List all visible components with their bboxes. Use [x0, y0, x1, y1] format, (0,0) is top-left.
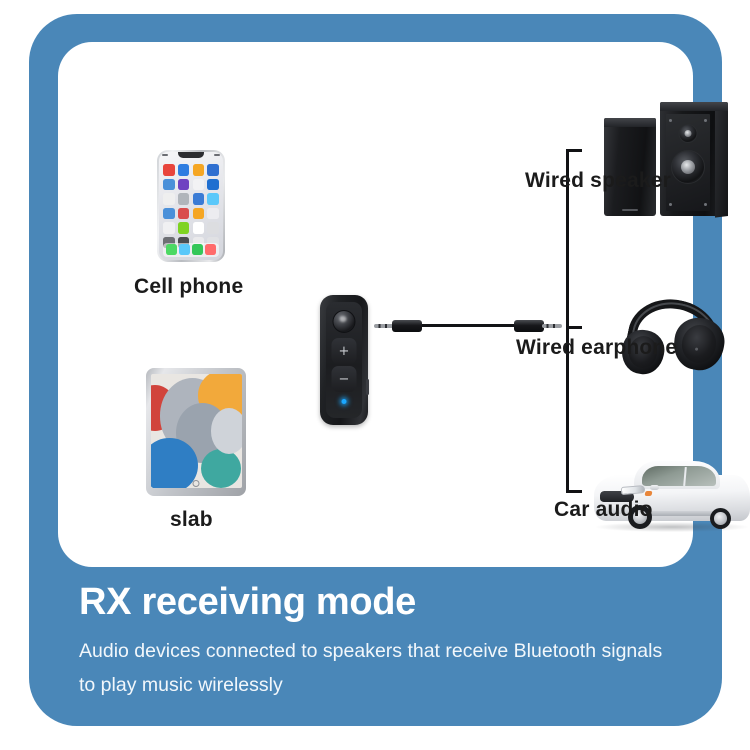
phone-app-icon-2	[178, 164, 189, 175]
phone-app-grid	[163, 164, 219, 248]
woofer-icon	[671, 150, 705, 184]
receiver-body: + −	[320, 295, 368, 425]
volume-down-button[interactable]: −	[332, 366, 357, 392]
label-car-audio: Car audio	[554, 498, 653, 522]
speaker-left	[604, 118, 656, 216]
tweeter-icon	[679, 124, 698, 143]
phone-app-icon-3	[193, 164, 204, 175]
phone-app-icon-19	[193, 222, 204, 233]
tablet-illustration	[146, 368, 246, 496]
aux-plug-left-icon	[374, 318, 424, 333]
phone-app-icon-4	[207, 164, 218, 175]
phone-app-icon-8	[207, 179, 218, 190]
cable-wire	[412, 324, 530, 327]
wired-speaker-illustration	[604, 100, 730, 216]
label-wired-earphone: Wired earphone	[516, 336, 677, 360]
phone-app-icon-9	[163, 193, 174, 204]
phone-app-icon-20	[207, 222, 218, 233]
rx-mode-infographic: Cell phone slab	[0, 0, 750, 750]
output-bracket-tick	[566, 326, 582, 329]
phone-app-icon-12	[207, 193, 218, 204]
phone-dock-icon-1	[166, 244, 177, 255]
phone-app-icon-7	[193, 179, 204, 190]
phone-app-icon-13	[163, 208, 174, 219]
speaker-right	[660, 102, 728, 216]
phone-app-icon-1	[163, 164, 174, 175]
phone-chassis	[157, 150, 225, 262]
label-slab: slab	[170, 508, 213, 532]
aux-plug-right-icon	[514, 318, 564, 333]
phone-screen	[159, 152, 223, 260]
car-side-mirror	[650, 485, 659, 490]
label-cell-phone: Cell phone	[134, 275, 243, 299]
bluetooth-receiver: + −	[320, 295, 368, 425]
car-rear-wheel	[710, 508, 731, 529]
phone-notch	[178, 152, 204, 158]
tablet-screen	[151, 374, 242, 489]
phone-dock-icon-3	[192, 244, 203, 255]
phone-app-icon-14	[178, 208, 189, 219]
multifunction-button-icon[interactable]	[333, 310, 356, 333]
phone-app-icon-17	[163, 222, 174, 233]
label-wired-speaker: Wired speaker	[525, 169, 671, 193]
caption-block: RX receiving mode Audio devices connecte…	[79, 580, 679, 702]
car-audio-illustration	[588, 457, 750, 535]
receiver-face: + −	[326, 302, 362, 418]
phone-dock-icon-4	[205, 244, 216, 255]
cell-phone-illustration	[157, 150, 225, 262]
phone-app-icon-18	[178, 222, 189, 233]
output-bracket	[566, 149, 582, 493]
phone-dock	[163, 243, 219, 257]
aux-cable	[374, 314, 564, 338]
car-windshield	[642, 466, 716, 486]
phone-dock-icon-2	[179, 244, 190, 255]
page-title: RX receiving mode	[79, 580, 679, 624]
diagram-card: Cell phone slab	[58, 42, 693, 567]
phone-app-icon-16	[207, 208, 218, 219]
tablet-chassis	[146, 368, 246, 496]
tablet-home-button	[193, 480, 200, 487]
phone-app-icon-6	[178, 179, 189, 190]
phone-app-icon-11	[193, 193, 204, 204]
phone-app-icon-5	[163, 179, 174, 190]
page-subtitle: Audio devices connected to speakers that…	[79, 634, 679, 702]
status-led-icon	[342, 399, 347, 404]
receiver-side-port	[366, 379, 369, 395]
volume-up-button[interactable]: +	[332, 338, 357, 364]
phone-app-icon-10	[178, 193, 189, 204]
phone-app-icon-15	[193, 208, 204, 219]
